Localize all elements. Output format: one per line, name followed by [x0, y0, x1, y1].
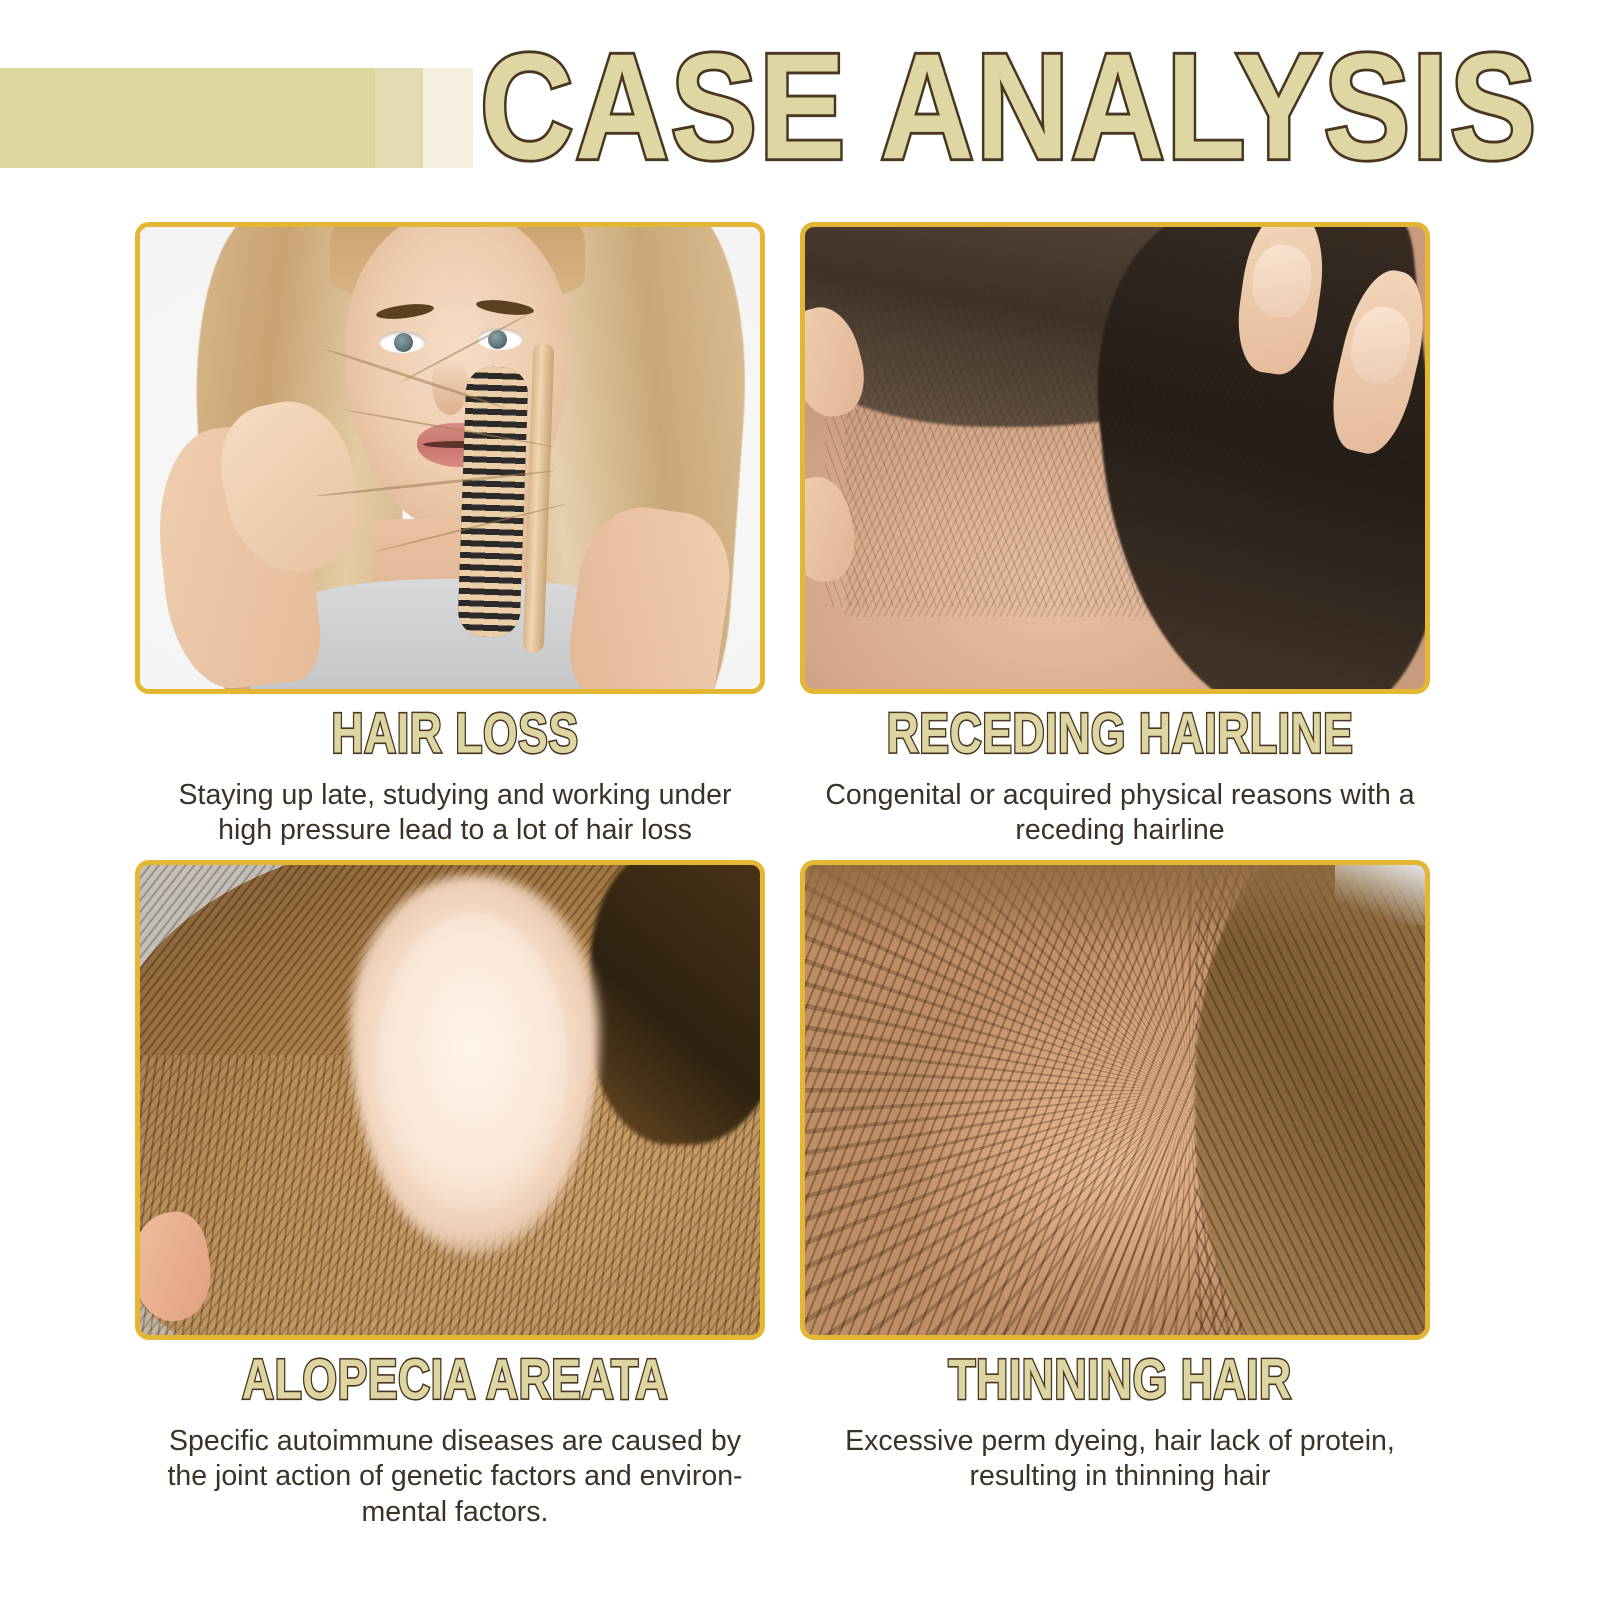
banner-segment-primary: [0, 68, 375, 168]
case-card-grid: HAIR LOSS Staying up late, studying and …: [0, 200, 1600, 1600]
card-title-alopecia-areata: ALOPECIA AREATA: [145, 1351, 766, 1407]
photo-alopecia-areata: [140, 865, 760, 1335]
photo-frame-receding-hairline: [800, 222, 1430, 694]
case-card-hair-loss[interactable]: HAIR LOSS Staying up late, studying and …: [135, 222, 775, 849]
card-description-hair-loss: Staying up late, studying and working un…: [135, 778, 775, 849]
photo-frame-thinning-hair: [800, 860, 1430, 1340]
photo-hair-loss: [140, 227, 760, 689]
photo-frame-hair-loss: [135, 222, 765, 694]
banner-segment-light: [423, 68, 473, 168]
photo-frame-alopecia-areata: [135, 860, 765, 1340]
case-card-alopecia-areata[interactable]: ALOPECIA AREATA Specific autoimmune dise…: [135, 860, 775, 1530]
card-description-thinning-hair: Excessive perm dyeing, hair lack of prot…: [800, 1424, 1440, 1495]
card-title-thinning-hair: THINNING HAIR: [810, 1351, 1431, 1407]
page-title: CASE ANALYSIS: [480, 22, 1382, 193]
case-card-receding-hairline[interactable]: RECEDING HAIRLINE Congenital or acquired…: [800, 222, 1440, 849]
card-title-receding-hairline: RECEDING HAIRLINE: [810, 705, 1431, 761]
page-header: CASE ANALYSIS: [0, 0, 1600, 200]
header-banner-bars: [0, 68, 473, 168]
case-card-thinning-hair[interactable]: THINNING HAIR Excessive perm dyeing, hai…: [800, 860, 1440, 1495]
card-description-receding-hairline: Congenital or acquired physical reasons …: [800, 778, 1440, 849]
photo-receding-hairline: [805, 227, 1425, 689]
photo-thinning-hair: [805, 865, 1425, 1335]
card-description-alopecia-areata: Specific autoimmune diseases are caused …: [135, 1424, 775, 1530]
card-title-hair-loss: HAIR LOSS: [145, 705, 766, 761]
banner-segment-mid: [375, 68, 423, 168]
